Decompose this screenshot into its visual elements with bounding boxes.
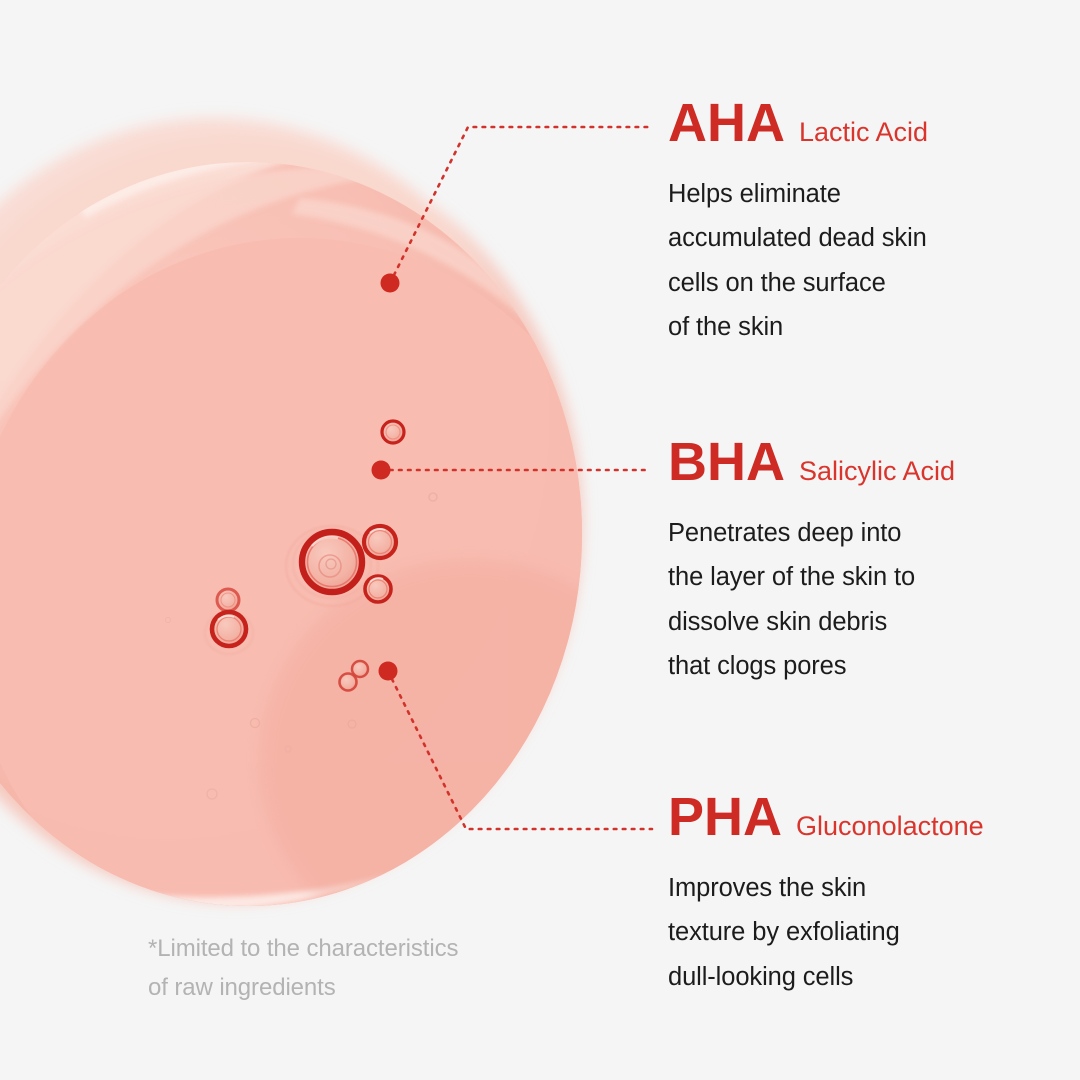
bha-description-line: that clogs pores xyxy=(668,644,1068,688)
ingredient-block-pha: PHA Gluconolactone Improves the skin tex… xyxy=(668,790,1068,999)
footnote-disclaimer: *Limited to the characteristics of raw i… xyxy=(148,930,458,1008)
footnote-line: *Limited to the characteristics xyxy=(148,930,458,969)
pha-heading-row: PHA Gluconolactone xyxy=(668,790,1068,845)
ingredient-info-column: AHA Lactic Acid Helps eliminate accumula… xyxy=(668,0,1068,1080)
aha-description-line: Helps eliminate xyxy=(668,172,1068,216)
bha-description-line: the layer of the skin to xyxy=(668,555,1068,599)
pha-name: Gluconolactone xyxy=(796,813,984,841)
bha-description-line: dissolve skin debris xyxy=(668,600,1068,644)
aha-code: AHA xyxy=(668,96,785,151)
aha-description-line: cells on the surface xyxy=(668,261,1068,305)
bha-name: Salicylic Acid xyxy=(799,458,955,486)
bha-description-line: Penetrates deep into xyxy=(668,511,1068,555)
aha-description-line: accumulated dead skin xyxy=(668,216,1068,260)
pha-leader-dot xyxy=(379,662,398,681)
ingredient-block-aha: AHA Lactic Acid Helps eliminate accumula… xyxy=(668,96,1068,350)
aha-name: Lactic Acid xyxy=(799,119,928,147)
aha-leader xyxy=(381,127,651,293)
bha-description: Penetrates deep into the layer of the sk… xyxy=(668,511,1068,688)
ingredient-block-bha: BHA Salicylic Acid Penetrates deep into … xyxy=(668,435,1068,689)
aha-heading-row: AHA Lactic Acid xyxy=(668,96,1068,151)
footnote-line: of raw ingredients xyxy=(148,969,458,1008)
infographic-canvas: AHA Lactic Acid Helps eliminate accumula… xyxy=(0,0,1080,1080)
pha-code: PHA xyxy=(668,790,782,845)
bha-heading-row: BHA Salicylic Acid xyxy=(668,435,1068,490)
aha-description-line: of the skin xyxy=(668,305,1068,349)
pha-description: Improves the skin texture by exfoliating… xyxy=(668,866,1068,999)
bha-leader-dot xyxy=(372,461,391,480)
pha-description-line: dull-looking cells xyxy=(668,955,1068,999)
aha-description: Helps eliminate accumulated dead skin ce… xyxy=(668,172,1068,349)
bha-leader xyxy=(372,461,651,480)
pha-leader xyxy=(379,662,653,830)
pha-description-line: texture by exfoliating xyxy=(668,910,1068,954)
pha-description-line: Improves the skin xyxy=(668,866,1068,910)
aha-leader-dot xyxy=(381,274,400,293)
bha-code: BHA xyxy=(668,435,785,490)
